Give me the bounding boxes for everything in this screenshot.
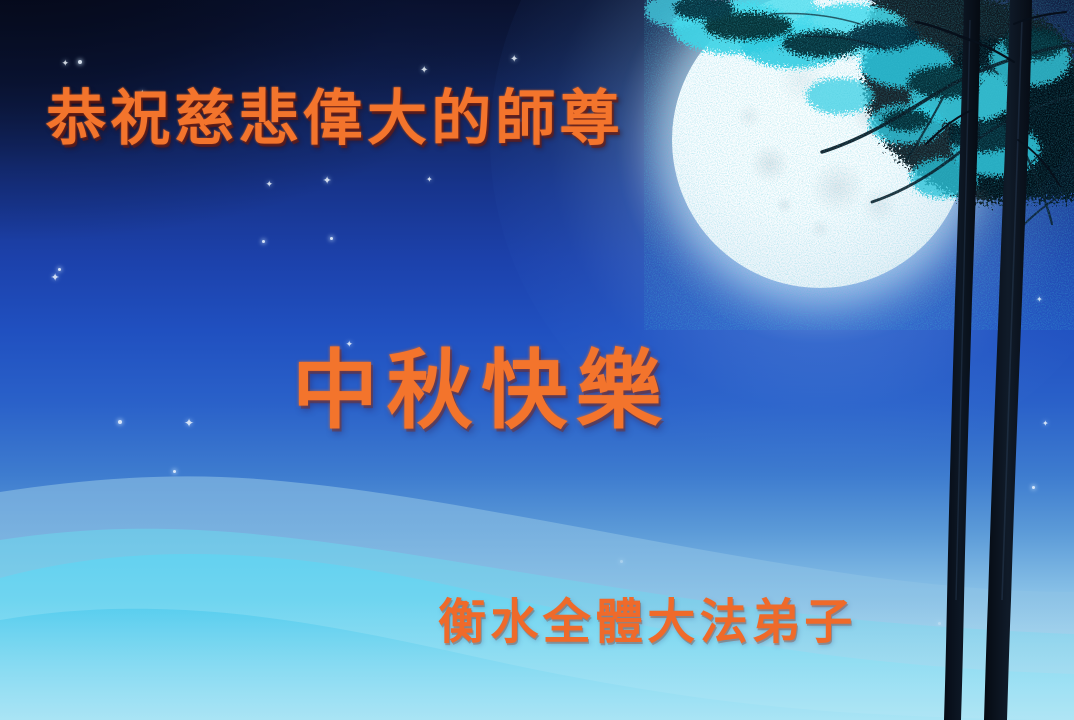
star-dot-icon — [78, 60, 82, 64]
star-sparkle-icon: ✦ — [266, 181, 274, 190]
star-sparkle-icon: ✦ — [323, 175, 332, 186]
star-sparkle-icon: ✦ — [966, 251, 974, 260]
star-dot-icon — [330, 237, 333, 240]
star-sparkle-icon: ✦ — [426, 176, 433, 184]
star-sparkle-icon: ✦ — [1042, 420, 1049, 428]
star-dot-icon — [620, 560, 623, 563]
star-dot-icon — [1032, 486, 1035, 489]
star-sparkle-icon: ✦ — [184, 417, 194, 429]
greeting-main-line: 中秋快樂 — [292, 320, 670, 445]
greeting-top-line: 恭祝慈悲偉大的師尊 — [46, 70, 624, 157]
greeting-card: ✦✦✦✦✦✦✦✦✦✦✦✦✦ — [0, 0, 1074, 720]
star-dot-icon — [1012, 340, 1015, 343]
star-dot-icon — [118, 420, 122, 424]
greeting-signature: 衡水全體大法弟子 — [438, 582, 857, 652]
star-sparkle-icon: ✦ — [510, 55, 518, 65]
star-sparkle-icon: ✦ — [51, 272, 60, 283]
star-dot-icon — [173, 470, 176, 473]
star-dot-icon — [938, 622, 941, 625]
star-dot-icon — [262, 240, 265, 243]
star-sparkle-icon: ✦ — [62, 60, 70, 69]
star-sparkle-icon: ✦ — [1036, 296, 1043, 304]
